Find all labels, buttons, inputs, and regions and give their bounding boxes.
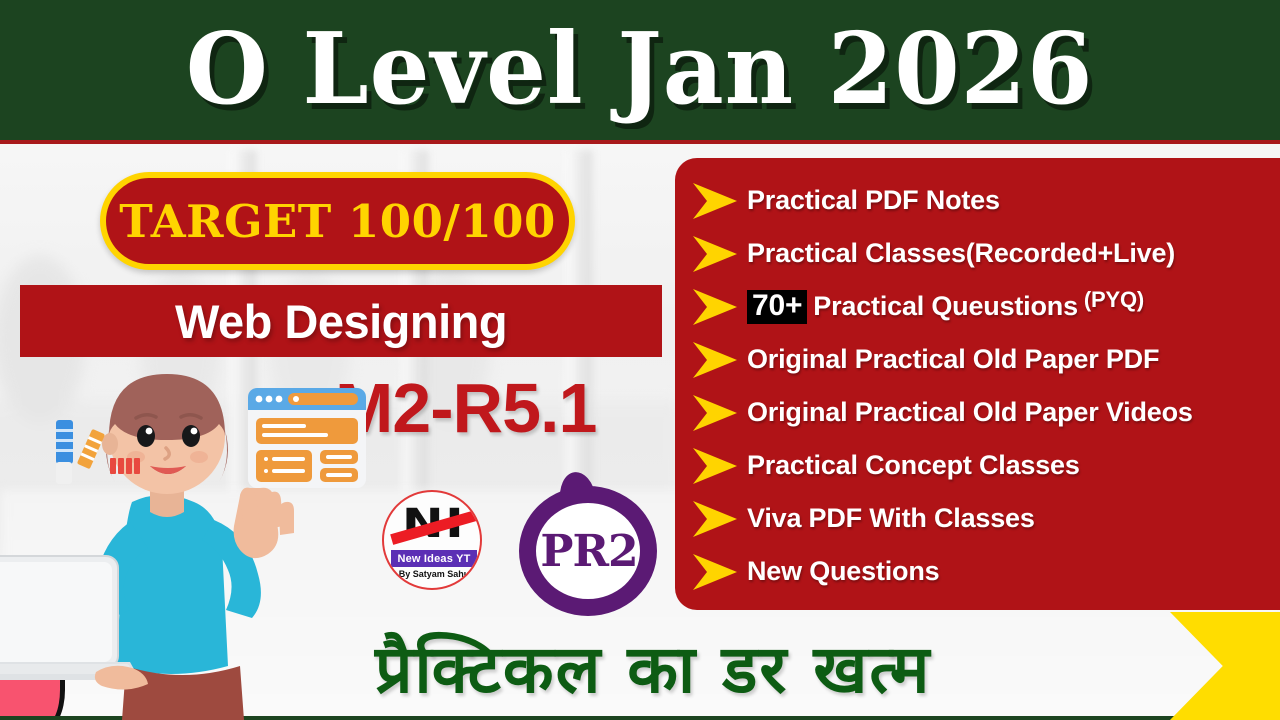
blue-book-icon [56,420,73,464]
illustration-svg [0,360,370,720]
feature-item: Practical Classes(Recorded+Live) [687,227,1272,280]
feature-label: Practical PDF Notes [747,185,1000,216]
feature-note: (PYQ) [1084,287,1144,313]
feature-label: Viva PDF With Classes [747,503,1035,534]
page-title: O Level Jan 2026 [186,21,1094,119]
feature-item: Original Practical Old Paper PDF [687,333,1272,386]
tagline: प्रैक्टिकल का डर खत्म [375,618,1205,716]
arrow-right-icon [687,552,743,592]
brand-initial-i: I [445,504,464,544]
brand-byline: By Satyam Sahu [384,569,482,579]
feature-item: 70+ Practical Queustions (PYQ) [687,280,1272,333]
arrow-right-icon [687,340,743,380]
feature-text: New Questions [747,556,939,587]
arrow-right-icon [687,181,743,221]
feature-item: Original Practical Old Paper Videos [687,386,1272,439]
brand-channel-band: New Ideas YT [391,550,477,567]
brand-initials: N I [384,500,482,548]
paper-badge-label: PR2 [515,486,663,616]
feature-label: Practical Concept Classes [747,450,1080,481]
header-banner: O Level Jan 2026 [0,0,1280,140]
feature-item: New Questions [687,545,1272,598]
brand-logo: N I New Ideas YT By Satyam Sahu [382,490,482,590]
feature-text: Practical Classes(Recorded+Live) [747,238,1175,269]
poster-canvas: O Level Jan 2026 TARGET 100/100 Web Desi… [0,0,1280,720]
paper-badge: PR2 [515,470,663,618]
orange-ruler-icon [77,429,105,469]
module-code: M2-R5.1 [335,372,635,444]
feature-text: 70+ Practical Queustions (PYQ) [747,290,1144,324]
target-badge-label: TARGET 100/100 [119,195,556,248]
illustration-woman-with-laptop [0,360,370,720]
feature-item: Practical Concept Classes [687,439,1272,492]
target-badge: TARGET 100/100 [100,172,575,270]
arrow-right-icon [687,393,743,433]
feature-text: Original Practical Old Paper Videos [747,397,1193,428]
arrow-right-icon [687,234,743,274]
feature-label: Original Practical Old Paper PDF [747,344,1159,375]
subject-label: Web Designing [175,294,507,349]
features-panel: Practical PDF Notes Practical Classes(Re… [675,158,1280,610]
feature-label: Practical Queustions [813,291,1078,322]
brand-initial-n: N [402,504,444,544]
arrow-right-icon [687,446,743,486]
subject-bar: Web Designing [20,285,662,357]
header-divider [0,140,1280,144]
feature-text: Practical PDF Notes [747,185,1000,216]
feature-label: Practical Classes(Recorded+Live) [747,238,1175,269]
features-list: Practical PDF Notes Practical Classes(Re… [675,168,1280,598]
feature-text: Viva PDF With Classes [747,503,1035,534]
white-prop-icon [56,462,72,484]
brand-channel-label: New Ideas YT [397,553,470,565]
feature-label: Original Practical Old Paper Videos [747,397,1193,428]
feature-label: New Questions [747,556,939,587]
arrow-right-icon [687,499,743,539]
arrow-right-icon [687,287,743,327]
waving-hand-icon [234,488,294,559]
feature-item: Practical PDF Notes [687,174,1272,227]
feature-text: Original Practical Old Paper PDF [747,344,1159,375]
feature-text: Practical Concept Classes [747,450,1080,481]
browser-card-icon [248,388,366,488]
red-bars-icon [110,458,146,474]
feature-count-badge: 70+ [747,290,807,324]
feature-item: Viva PDF With Classes [687,492,1272,545]
desk-props [48,420,168,490]
